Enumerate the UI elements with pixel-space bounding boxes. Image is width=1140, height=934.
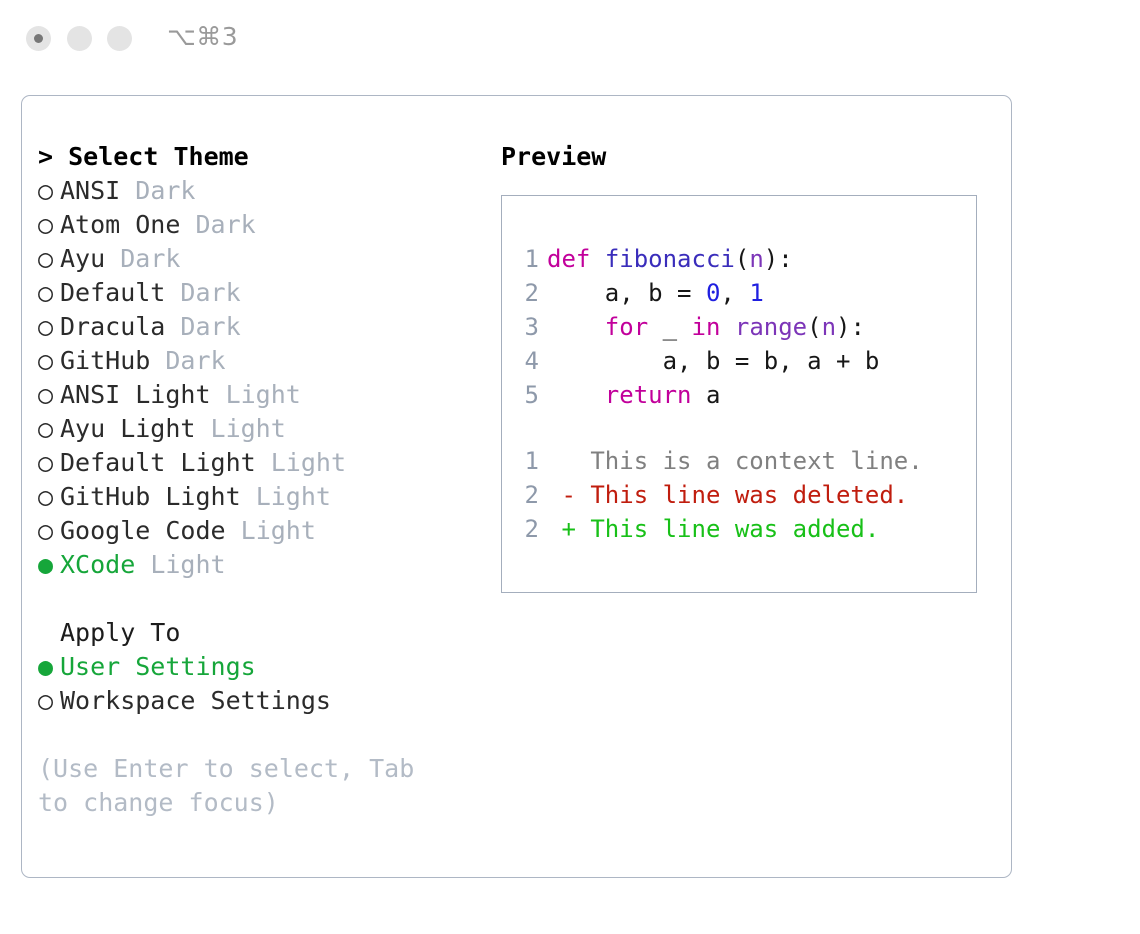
radio-unselected-icon: ○ — [38, 480, 60, 514]
apply-to-option-name: Workspace Settings — [60, 686, 331, 715]
theme-option-ayu[interactable]: ○Ayu Dark — [38, 242, 478, 276]
code-line: 3 for _ in range(n): — [509, 310, 970, 344]
code-token: def — [547, 245, 590, 273]
spacer — [195, 414, 210, 443]
radio-unselected-icon: ○ — [38, 310, 60, 344]
select-theme-heading: > Select Theme — [38, 140, 478, 174]
spacer — [241, 482, 256, 511]
diff-line: 2 + This line was added. — [509, 512, 970, 546]
code-token: _ — [648, 313, 691, 341]
theme-option-category: Dark — [180, 312, 240, 341]
theme-option-name: Default Light — [60, 448, 256, 477]
code-preview-area: 1def fibonacci(n):2 a, b = 0, 13 for _ i… — [509, 242, 970, 546]
radio-unselected-icon: ○ — [38, 378, 60, 412]
line-number: 2 — [509, 276, 539, 310]
code-token: ( — [807, 313, 821, 341]
preview-box: 1def fibonacci(n):2 a, b = 0, 13 for _ i… — [501, 195, 977, 593]
diff-line: 2 - This line was deleted. — [509, 478, 970, 512]
code-token: a, b = b, a + b — [547, 347, 879, 375]
theme-option-name: Ayu — [60, 244, 105, 273]
theme-option-category: Light — [256, 482, 331, 511]
code-token: 0 — [706, 279, 720, 307]
spacer — [120, 176, 135, 205]
theme-option-name: Atom One — [60, 210, 180, 239]
theme-option-category: Dark — [195, 210, 255, 239]
theme-option-category: Dark — [165, 346, 225, 375]
radio-unselected-icon: ○ — [38, 446, 60, 480]
code-token: n — [822, 313, 836, 341]
app-window: ⌥⌘3 > Select Theme ○ANSI Dark○Atom One D… — [0, 0, 1140, 934]
theme-option-dracula[interactable]: ○Dracula Dark — [38, 310, 478, 344]
code-token: in — [692, 313, 721, 341]
theme-option-name: XCode — [60, 550, 135, 579]
theme-option-atom-one[interactable]: ○Atom One Dark — [38, 208, 478, 242]
code-token: ): — [836, 313, 865, 341]
code-token: , — [720, 279, 749, 307]
keyboard-shortcut-label: ⌥⌘3 — [167, 22, 238, 51]
line-number: 1 — [509, 444, 539, 478]
theme-option-name: ANSI Light — [60, 380, 211, 409]
theme-option-github-light[interactable]: ○GitHub Light Light — [38, 480, 478, 514]
code-token: a, b = — [547, 279, 706, 307]
code-token: ( — [735, 245, 749, 273]
spacer — [211, 380, 226, 409]
theme-option-name: Google Code — [60, 516, 226, 545]
line-number: 4 — [509, 344, 539, 378]
theme-option-name: Ayu Light — [60, 414, 195, 443]
radio-unselected-icon: ○ — [38, 242, 60, 276]
keyboard-hint-text: (Use Enter to select, Tab to change focu… — [38, 752, 458, 820]
theme-option-name: Default — [60, 278, 165, 307]
title-bar: ⌥⌘3 — [0, 0, 1140, 78]
line-number: 1 — [509, 242, 539, 276]
diff-line: 1 This is a context line. — [509, 444, 970, 478]
theme-option-name: Dracula — [60, 312, 165, 341]
spacer — [165, 312, 180, 341]
code-token: for — [605, 313, 648, 341]
spacer — [150, 346, 165, 375]
code-token: return — [605, 381, 692, 409]
code-line: 1def fibonacci(n): — [509, 242, 970, 276]
theme-option-category: Dark — [180, 278, 240, 307]
code-line: 5 return a — [509, 378, 970, 412]
apply-to-section: Apply To ●User Settings○Workspace Settin… — [38, 616, 478, 718]
window-dot-3[interactable] — [107, 26, 132, 51]
window-dot-active[interactable] — [26, 26, 51, 51]
theme-selection-column: > Select Theme ○ANSI Dark○Atom One Dark○… — [38, 140, 478, 820]
theme-option-xcode[interactable]: ●XCode Light — [38, 548, 478, 582]
radio-unselected-icon: ○ — [38, 344, 60, 378]
line-number: 5 — [509, 378, 539, 412]
code-line: 4 a, b = b, a + b — [509, 344, 970, 378]
window-dot-active-indicator — [34, 34, 43, 43]
code-token: ): — [764, 245, 793, 273]
theme-option-ayu-light[interactable]: ○Ayu Light Light — [38, 412, 478, 446]
radio-selected-icon: ● — [38, 650, 60, 684]
code-token: + This line was added. — [547, 515, 879, 543]
apply-to-option-name: User Settings — [60, 652, 256, 681]
radio-unselected-icon: ○ — [38, 412, 60, 446]
apply-to-option-workspace-settings[interactable]: ○Workspace Settings — [38, 684, 478, 718]
theme-option-google-code[interactable]: ○Google Code Light — [38, 514, 478, 548]
spacer — [180, 210, 195, 239]
apply-to-heading: Apply To — [38, 616, 478, 650]
line-number: 3 — [509, 310, 539, 344]
code-token: range — [735, 313, 807, 341]
preview-column: Preview 1def fibonacci(n):2 a, b = 0, 13… — [501, 140, 991, 593]
spacer — [105, 244, 120, 273]
theme-option-github[interactable]: ○GitHub Dark — [38, 344, 478, 378]
line-number: 2 — [509, 478, 539, 512]
spacer — [135, 550, 150, 579]
theme-option-category: Light — [211, 414, 286, 443]
radio-unselected-icon: ○ — [38, 276, 60, 310]
theme-option-ansi-light[interactable]: ○ANSI Light Light — [38, 378, 478, 412]
code-token — [547, 381, 605, 409]
apply-to-option-list: ●User Settings○Workspace Settings — [38, 650, 478, 718]
code-token: This is a context line. — [547, 447, 923, 475]
theme-option-category: Dark — [135, 176, 195, 205]
code-line: 2 a, b = 0, 1 — [509, 276, 970, 310]
theme-option-default-light[interactable]: ○Default Light Light — [38, 446, 478, 480]
code-token: n — [749, 245, 763, 273]
theme-option-category: Light — [150, 550, 225, 579]
code-token: 1 — [749, 279, 763, 307]
code-token: a — [692, 381, 721, 409]
apply-to-option-user-settings[interactable]: ●User Settings — [38, 650, 478, 684]
radio-selected-icon: ● — [38, 548, 60, 582]
code-diff-separator — [509, 412, 970, 444]
theme-option-ansi[interactable]: ○ANSI Dark — [38, 174, 478, 208]
code-token: fibonacci — [605, 245, 735, 273]
code-token — [590, 245, 604, 273]
spacer — [165, 278, 180, 307]
code-token — [720, 313, 734, 341]
code-token: - This line was deleted. — [547, 481, 908, 509]
theme-option-category: Light — [241, 516, 316, 545]
theme-option-name: GitHub — [60, 346, 150, 375]
spacer — [256, 448, 271, 477]
radio-unselected-icon: ○ — [38, 174, 60, 208]
theme-option-default[interactable]: ○Default Dark — [38, 276, 478, 310]
line-number: 2 — [509, 512, 539, 546]
theme-option-name: GitHub Light — [60, 482, 241, 511]
radio-unselected-icon: ○ — [38, 208, 60, 242]
theme-picker-panel: > Select Theme ○ANSI Dark○Atom One Dark○… — [21, 95, 1012, 878]
theme-option-category: Light — [226, 380, 301, 409]
theme-option-list: ○ANSI Dark○Atom One Dark○Ayu Dark○Defaul… — [38, 174, 478, 582]
theme-option-category: Dark — [120, 244, 180, 273]
theme-option-name: ANSI — [60, 176, 120, 205]
preview-heading: Preview — [501, 140, 991, 174]
code-token — [547, 313, 605, 341]
radio-unselected-icon: ○ — [38, 684, 60, 718]
spacer — [226, 516, 241, 545]
window-dot-2[interactable] — [67, 26, 92, 51]
theme-option-category: Light — [271, 448, 346, 477]
radio-unselected-icon: ○ — [38, 514, 60, 548]
